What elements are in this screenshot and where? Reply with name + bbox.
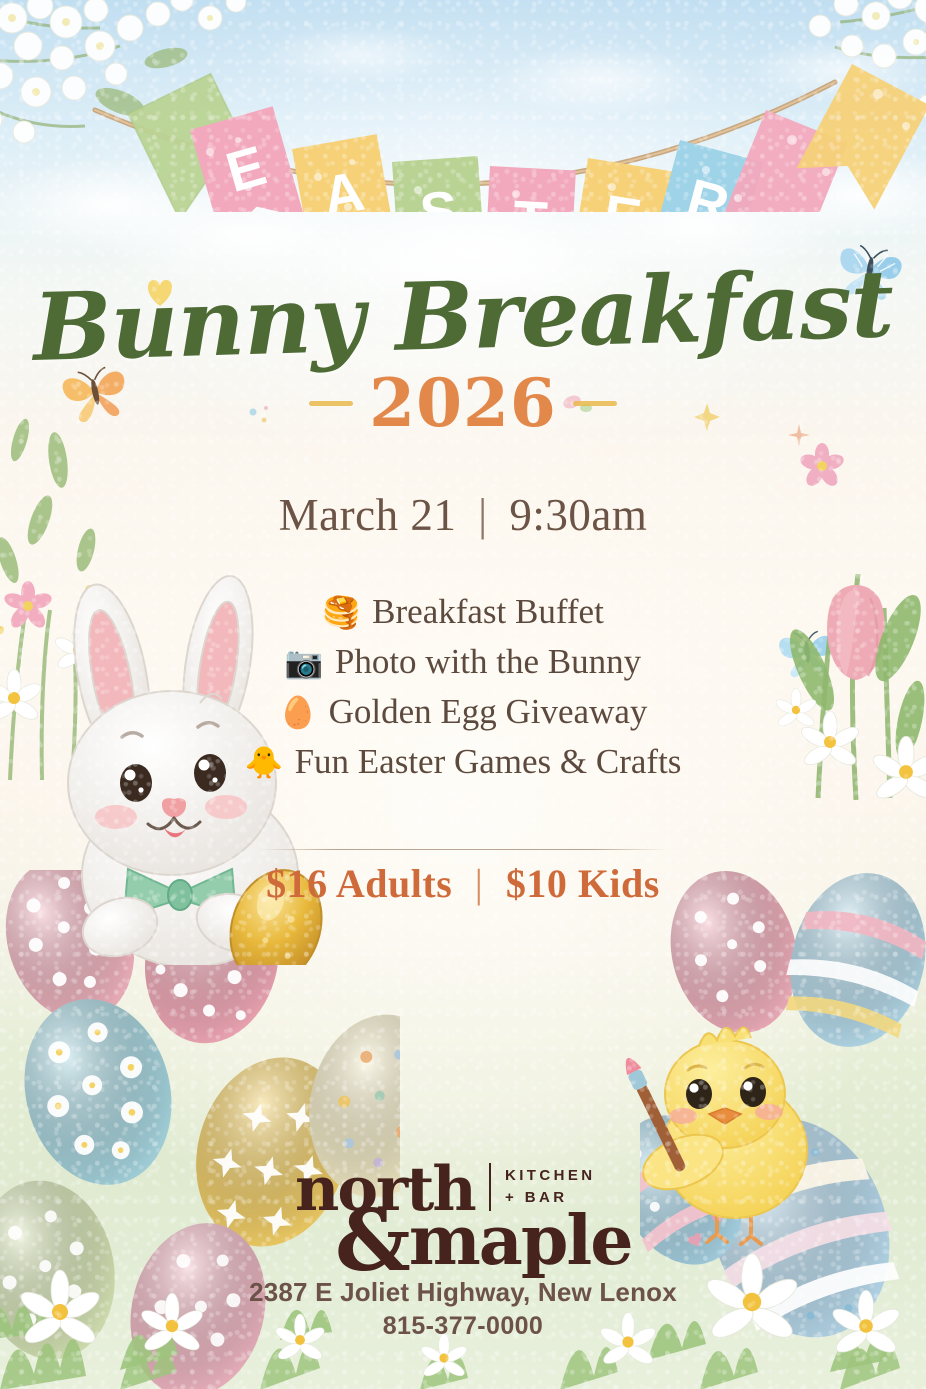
event-time: 9:30am: [509, 490, 647, 540]
year-dash-right: [573, 401, 617, 406]
brand-ampersand: &: [335, 1191, 409, 1290]
feature-label-3: Fun Easter Games & Crafts: [295, 742, 682, 782]
pancakes-icon: 🥞: [322, 597, 360, 628]
price-separator: |: [463, 861, 496, 906]
date-separator: |: [468, 490, 498, 540]
event-date: March 21: [279, 490, 457, 540]
brand-name-maple-row: &maple: [335, 1199, 632, 1283]
feature-item-games-and-crafts: 🐥 Fun Easter Games & Crafts: [245, 742, 682, 782]
poster-headline: Bunny Breakfast 2026: [0, 272, 926, 442]
event-datetime: March 21 | 9:30am: [0, 489, 926, 541]
feature-label-2: Golden Egg Giveaway: [329, 692, 648, 732]
price-adults: $16 Adults: [266, 861, 452, 906]
feature-item-photo-with-bunny: 📷 Photo with the Bunny: [285, 642, 641, 682]
brand-name-maple: maple: [409, 1201, 632, 1281]
page-title: Bunny Breakfast: [0, 259, 926, 373]
brand-logo: north KITCHEN + BAR &maple: [293, 1163, 633, 1271]
feature-list: 🥞 Breakfast Buffet 📷 Photo with the Bunn…: [0, 592, 926, 782]
year-dash-left: [309, 401, 353, 406]
year-row: 2026: [0, 364, 926, 442]
easter-bunny-breakfast-poster: E A S T E R: [0, 0, 926, 1389]
pricing-block: $16 Adults | $10 Kids: [0, 849, 926, 907]
golden-egg-icon: 🥚: [279, 697, 317, 728]
camera-icon: 📷: [285, 647, 323, 678]
event-year: 2026: [369, 364, 557, 442]
price-kids: $10 Kids: [506, 861, 660, 906]
poster-footer: north KITCHEN + BAR &maple 2387 E Joliet…: [0, 1163, 926, 1341]
venue-phone: 815-377-0000: [0, 1312, 926, 1341]
feature-item-golden-egg-giveaway: 🥚 Golden Egg Giveaway: [279, 692, 648, 732]
pricing-text: $16 Adults | $10 Kids: [0, 860, 926, 907]
brand-tagline-line1: KITCHEN: [505, 1165, 595, 1187]
pricing-divider: [260, 849, 666, 850]
feature-label-0: Breakfast Buffet: [372, 592, 604, 632]
feature-item-breakfast-buffet: 🥞 Breakfast Buffet: [322, 592, 604, 632]
baby-chick-icon: 🐥: [245, 747, 283, 778]
feature-label-1: Photo with the Bunny: [335, 642, 641, 682]
